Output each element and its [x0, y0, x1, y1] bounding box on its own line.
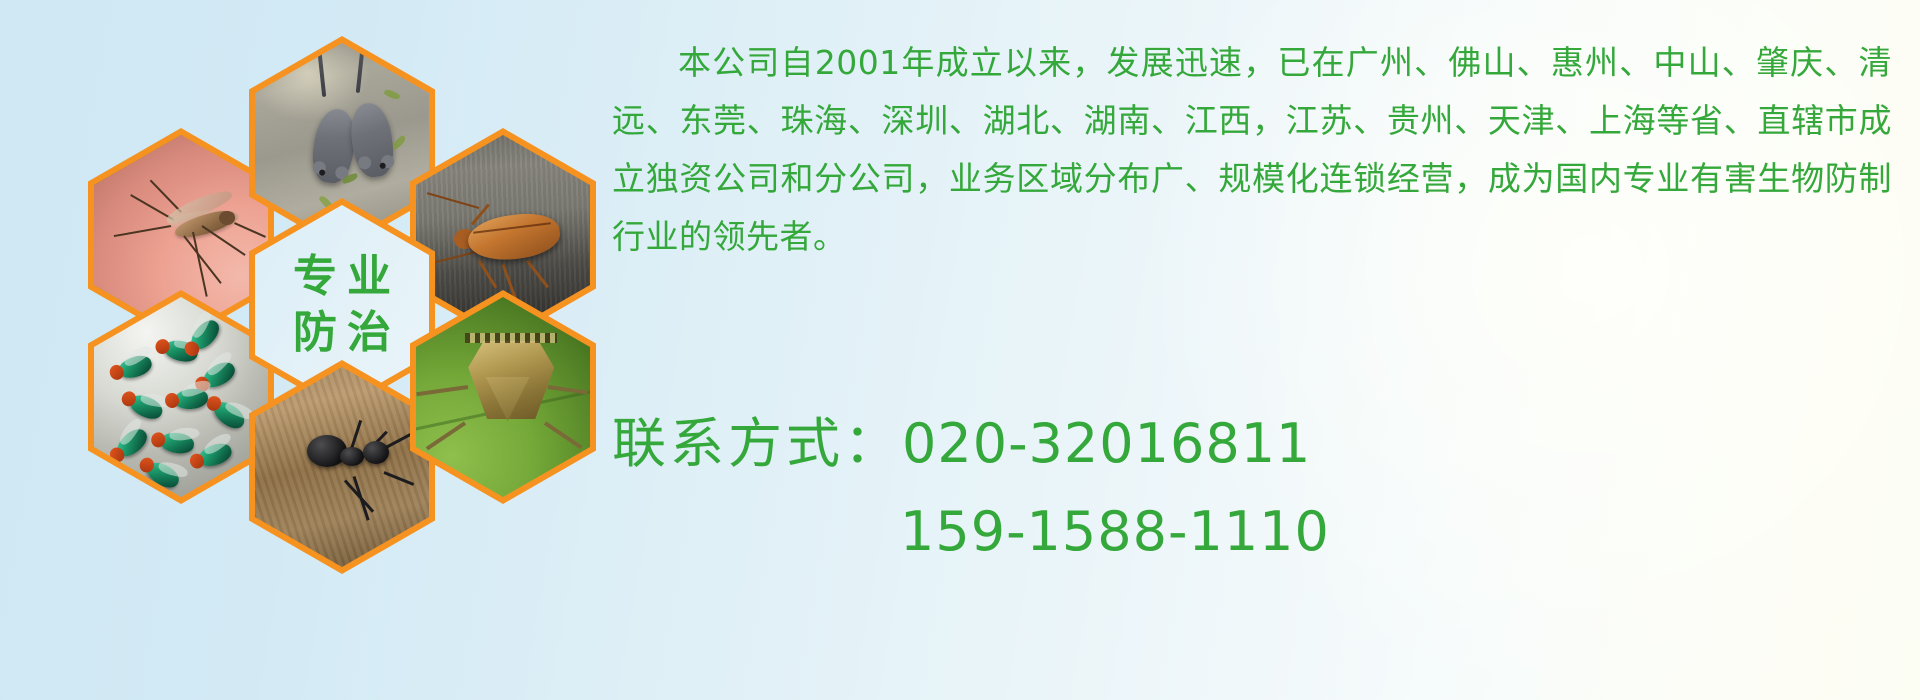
center-label-line-2: 防治	[283, 310, 401, 356]
flies-photo	[94, 297, 268, 497]
hex-cell-flies[interactable]	[88, 290, 274, 504]
stinkbug-photo	[416, 297, 590, 497]
contact-block: 联系方式：020-32016811 159-1588-1110	[612, 400, 1912, 576]
hex-cell-ant[interactable]	[249, 360, 435, 574]
contact-label: 联系方式：	[612, 412, 902, 475]
phone-primary[interactable]: 020-32016811	[902, 412, 1311, 475]
copy-column: 本公司自2001年成立以来，发展迅速，已在广州、佛山、惠州、中山、肇庆、清远、东…	[612, 34, 1892, 266]
hex-cell-stinkbug[interactable]	[410, 290, 596, 504]
promo-banner: 专业 防治	[0, 0, 1920, 700]
hexagon-photo-cluster: 专业 防治	[88, 8, 588, 568]
company-intro-paragraph: 本公司自2001年成立以来，发展迅速，已在广州、佛山、惠州、中山、肇庆、清远、东…	[612, 34, 1892, 266]
ant-photo	[255, 367, 429, 567]
phone-secondary[interactable]: 159-1588-1110	[900, 500, 1330, 563]
center-label-line-1: 专业	[283, 254, 401, 300]
contact-secondary-line: 159-1588-1110	[612, 488, 1912, 576]
contact-primary-line: 联系方式：020-32016811	[612, 400, 1912, 488]
